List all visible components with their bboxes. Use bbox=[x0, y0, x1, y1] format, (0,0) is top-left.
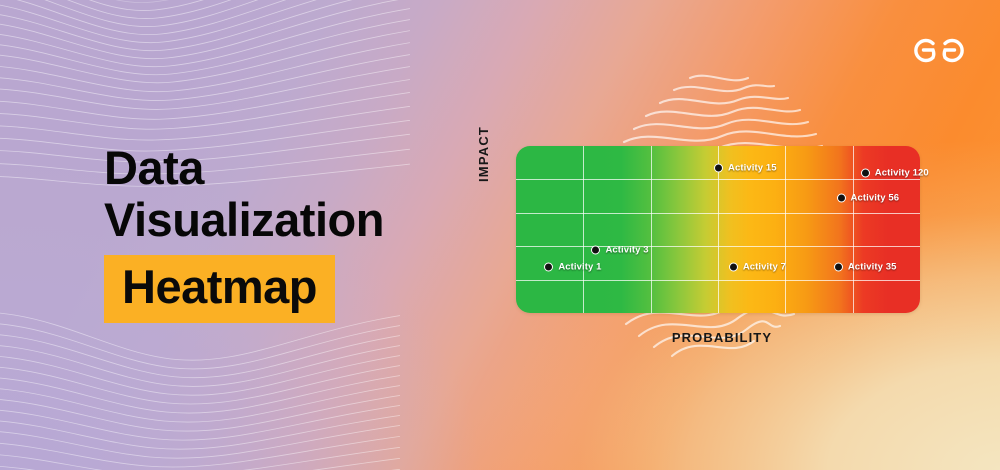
data-point[interactable]: Activity 7 bbox=[729, 261, 786, 272]
data-point[interactable]: Activity 35 bbox=[834, 261, 897, 272]
data-point[interactable]: Activity 1 bbox=[544, 261, 601, 272]
data-point[interactable]: Activity 3 bbox=[591, 245, 648, 256]
title-line-1: Data bbox=[104, 142, 484, 194]
data-point[interactable]: Activity 15 bbox=[714, 162, 777, 173]
data-point-label: Activity 35 bbox=[848, 261, 897, 272]
data-point-dot bbox=[861, 168, 870, 177]
data-point-dot bbox=[837, 194, 846, 203]
title-highlight: Heatmap bbox=[104, 255, 335, 323]
gridline-vertical bbox=[853, 146, 854, 313]
gridline-vertical bbox=[785, 146, 786, 313]
data-point-label: Activity 15 bbox=[728, 162, 777, 173]
y-axis-label: IMPACT bbox=[476, 126, 491, 182]
data-point-label: Activity 56 bbox=[851, 193, 900, 204]
data-point-label: Activity 120 bbox=[875, 167, 929, 178]
title-block: Data Visualization Heatmap bbox=[104, 142, 484, 323]
data-point[interactable]: Activity 120 bbox=[861, 167, 929, 178]
data-point-label: Activity 3 bbox=[605, 245, 648, 256]
data-point-dot bbox=[591, 246, 600, 255]
x-axis-label: PROBABILITY bbox=[612, 330, 832, 345]
heatmap-chart: Activity 15 Activity 120 Activity 56 Act… bbox=[462, 60, 982, 360]
heatmap-plot-area: Activity 15 Activity 120 Activity 56 Act… bbox=[516, 146, 920, 313]
gridline-vertical bbox=[583, 146, 584, 313]
data-point-label: Activity 1 bbox=[558, 261, 601, 272]
banner-graphic: Data Visualization Heatmap bbox=[0, 0, 1000, 470]
data-point-dot bbox=[729, 262, 738, 271]
data-point[interactable]: Activity 56 bbox=[837, 193, 900, 204]
data-point-label: Activity 7 bbox=[743, 261, 786, 272]
title-line-2: Visualization bbox=[104, 194, 484, 246]
title-highlight-wrap: Heatmap bbox=[104, 255, 335, 323]
data-point-dot bbox=[834, 262, 843, 271]
wave-lines-decoration-bottom bbox=[0, 300, 400, 470]
data-point-dot bbox=[544, 262, 553, 271]
data-point-dot bbox=[714, 163, 723, 172]
gridline-vertical bbox=[651, 146, 652, 313]
